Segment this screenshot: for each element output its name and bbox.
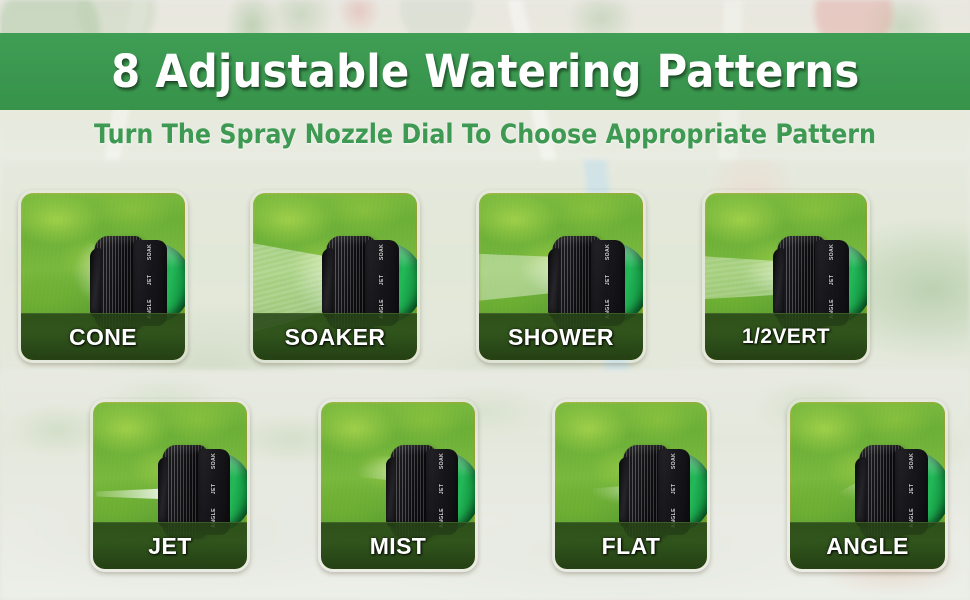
dial-label-soak: SOAK — [909, 453, 915, 469]
pattern-caption-bar: SOAKER — [253, 313, 417, 360]
pattern-caption-bar: CONE — [21, 313, 185, 360]
pattern-caption-bar: FLAT — [555, 522, 707, 569]
pattern-card-jet[interactable]: SOAKJETANGLEJET — [90, 399, 250, 572]
pattern-caption-label: SOAKER — [285, 324, 386, 351]
pattern-card-soaker[interactable]: SOAKJETANGLESOAKER — [250, 190, 420, 363]
nozzle-spray-tip — [90, 248, 101, 319]
pattern-caption-bar: ANGLE — [790, 522, 945, 569]
pattern-caption-label: FLAT — [602, 533, 661, 560]
pattern-caption-bar: 1/2VERT — [705, 313, 867, 360]
dial-label-jet: JET — [147, 274, 153, 284]
pattern-card-inner: SOAKJETANGLESHOWER — [479, 193, 643, 360]
pattern-card-mist[interactable]: SOAKJETANGLEMIST — [318, 399, 478, 572]
pattern-caption-label: JET — [148, 533, 191, 560]
dial-label-soak: SOAK — [439, 453, 445, 469]
pattern-caption-label: 1/2VERT — [742, 325, 830, 349]
nozzle-spray-tip — [855, 457, 866, 528]
pattern-card-grid: SOAKJETANGLECONESOAKJETANGLESOAKERSOAKJE… — [0, 0, 970, 600]
pattern-card-flat[interactable]: SOAKJETANGLEFLAT — [552, 399, 710, 572]
pattern-caption-label: CONE — [69, 324, 137, 351]
nozzle-spray-tip — [322, 248, 333, 319]
pattern-caption-bar: MIST — [321, 522, 475, 569]
pattern-card-inner: SOAKJETANGLEFLAT — [555, 402, 707, 569]
nozzle-spray-tip — [548, 248, 559, 319]
dial-label-jet: JET — [211, 483, 217, 493]
pattern-card-1-2vert[interactable]: SOAKJETANGLE1/2VERT — [702, 190, 870, 363]
pattern-card-inner: SOAKJETANGLECONE — [21, 193, 185, 360]
pattern-card-inner: SOAKJETANGLE1/2VERT — [705, 193, 867, 360]
pattern-card-angle[interactable]: SOAKJETANGLEANGLE — [787, 399, 948, 572]
pattern-card-inner: SOAKJETANGLEMIST — [321, 402, 475, 569]
pattern-card-cone[interactable]: SOAKJETANGLECONE — [18, 190, 188, 363]
dial-label-soak: SOAK — [671, 453, 677, 469]
pattern-card-shower[interactable]: SOAKJETANGLESHOWER — [476, 190, 646, 363]
dial-label-jet: JET — [605, 274, 611, 284]
pattern-card-inner: SOAKJETANGLEJET — [93, 402, 247, 569]
pattern-caption-bar: JET — [93, 522, 247, 569]
pattern-caption-label: ANGLE — [826, 533, 909, 560]
dial-label-jet: JET — [909, 483, 915, 493]
dial-label-jet: JET — [379, 274, 385, 284]
pattern-caption-label: SHOWER — [508, 324, 614, 351]
dial-label-jet: JET — [439, 483, 445, 493]
dial-label-jet: JET — [671, 483, 677, 493]
dial-label-soak: SOAK — [147, 244, 153, 260]
nozzle-spray-tip — [158, 457, 169, 528]
pattern-caption-label: MIST — [370, 533, 427, 560]
pattern-card-inner: SOAKJETANGLEANGLE — [790, 402, 945, 569]
pattern-card-inner: SOAKJETANGLESOAKER — [253, 193, 417, 360]
pattern-caption-bar: SHOWER — [479, 313, 643, 360]
dial-label-jet: JET — [829, 274, 835, 284]
dial-label-soak: SOAK — [829, 244, 835, 260]
dial-label-soak: SOAK — [211, 453, 217, 469]
nozzle-spray-tip — [619, 457, 629, 528]
nozzle-spray-tip — [773, 248, 784, 319]
dial-label-soak: SOAK — [605, 244, 611, 260]
nozzle-spray-tip — [386, 457, 397, 528]
dial-label-soak: SOAK — [379, 244, 385, 260]
